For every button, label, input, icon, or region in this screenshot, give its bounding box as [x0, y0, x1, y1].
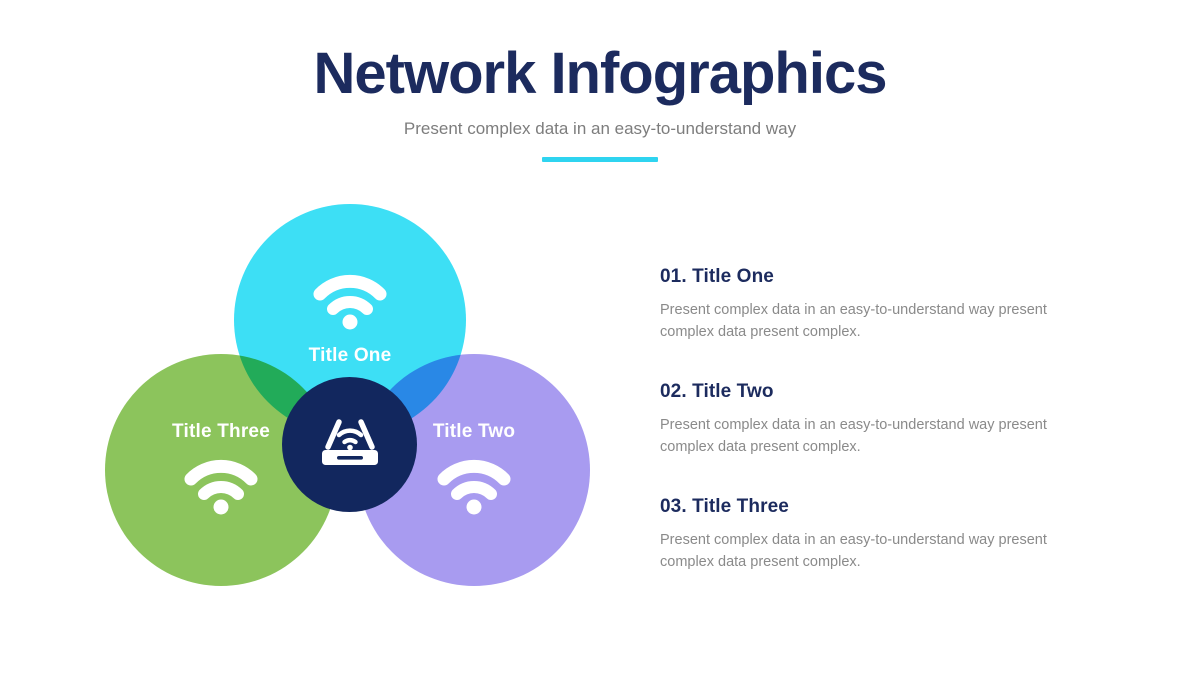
page-header: Network Infographics Present complex dat…: [0, 44, 1200, 162]
accent-divider: [542, 157, 658, 162]
venn-diagram: Title One Title Three Title Two: [105, 196, 605, 636]
list-item: 01. Title One Present complex data in an…: [660, 266, 1080, 343]
item-title: 02. Title Two: [660, 381, 1080, 403]
router-icon: [315, 413, 385, 476]
item-title: 03. Title Three: [660, 496, 1080, 518]
page-subtitle: Present complex data in an easy-to-under…: [0, 119, 1200, 139]
item-list: 01. Title One Present complex data in an…: [660, 266, 1080, 573]
item-description: Present complex data in an easy-to-under…: [660, 529, 1060, 573]
page-title: Network Infographics: [0, 44, 1200, 105]
venn-center-hub[interactable]: [282, 377, 417, 512]
list-item: 02. Title Two Present complex data in an…: [660, 381, 1080, 458]
list-item: 03. Title Three Present complex data in …: [660, 496, 1080, 573]
item-description: Present complex data in an easy-to-under…: [660, 414, 1060, 458]
item-title: 01. Title One: [660, 266, 1080, 288]
item-description: Present complex data in an easy-to-under…: [660, 299, 1060, 343]
